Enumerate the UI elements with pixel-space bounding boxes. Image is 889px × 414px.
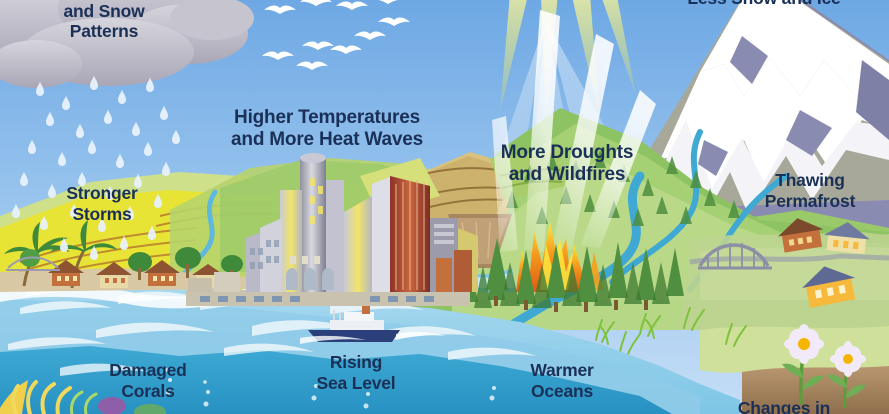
scene-artwork: [0, 0, 889, 414]
climate-change-illustration: Changing Rain and Snow Patterns Stronger…: [0, 0, 889, 414]
